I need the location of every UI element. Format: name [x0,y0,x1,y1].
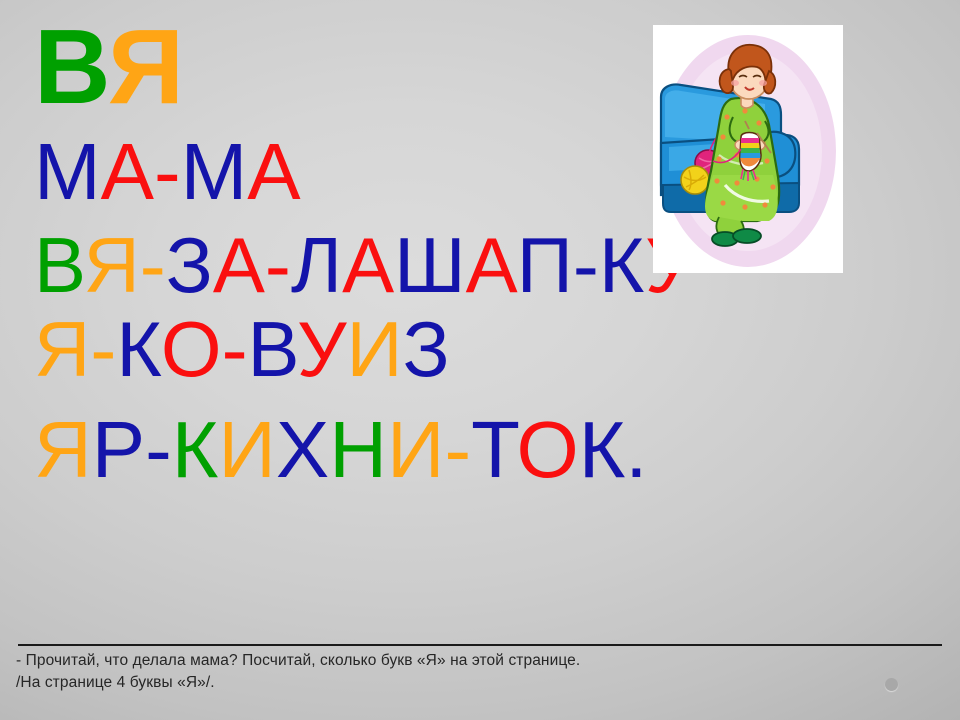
letter-mama-4: А [247,127,300,216]
letter-yarkih-nitok-7: Н [329,405,387,494]
footer-line-1: - Прочитай, что делала мама? Посчитай, с… [16,650,946,672]
letter-title-1: Я [108,8,184,126]
letter-yarkih-nitok-12: К [579,405,626,494]
decorative-dot [885,678,898,691]
letter-yarkih-nitok-13: . [625,405,647,494]
illustration-svg [653,25,843,273]
footer-instruction-text: - Прочитай, что делала мама? Посчитай, с… [16,650,946,695]
letter-mama-0: М [34,127,101,216]
letter-vyazala-shapku-2: - [140,221,166,309]
letter-vyazala-shapku-12: - [573,221,599,309]
letter-yarkih-nitok-3: К [172,405,219,494]
letter-yarkih-nitok-5: Х [276,405,329,494]
slide-canvas: ВЯ МА-МА ВЯ-ЗА-ЛАШАП-КУ Я-КО-ВУИЗ ЯР-КИХ… [0,0,960,720]
letter-yakovu-iz-0: Я [34,305,90,393]
footer-divider [18,644,942,646]
letter-mama-2: - [154,127,181,216]
letter-yakovu-iz-5: В [248,305,297,393]
letter-vyazala-shapku-6: Л [291,221,342,309]
letter-vyazala-shapku-13: К [599,221,645,309]
letter-vyazala-shapku-3: З [166,221,213,309]
word-line-yakovu-iz: Я-КО-ВУИЗ [34,310,914,388]
letter-vyazala-shapku-11: П [517,221,573,309]
letter-yarkih-nitok-10: Т [471,405,516,494]
letter-yarkih-nitok-4: И [218,405,276,494]
letter-yakovu-iz-9: З [403,305,450,393]
letter-vyazala-shapku-10: А [466,221,517,309]
letter-vyazala-shapku-0: В [34,221,83,309]
letter-yarkih-nitok-8: И [387,405,445,494]
letter-vyazala-shapku-9: Ш [394,221,466,309]
knitting-mother-illustration [653,25,843,273]
letter-vyazala-shapku-1: Я [83,221,139,309]
letter-yarkih-nitok-11: О [516,405,578,494]
letter-yarkih-nitok-9: - [445,405,472,494]
letter-yarkih-nitok-2: - [145,405,172,494]
letter-yarkih-nitok-0: Я [34,405,92,494]
word-line-yarkih-nitok: ЯР-КИХНИ-ТОК. [34,410,914,490]
letter-title-0: В [34,8,108,126]
letter-vyazala-shapku-4: А [213,221,265,309]
letter-mama-3: М [181,127,248,216]
letter-yakovu-iz-1: - [90,305,116,393]
letter-mama-1: А [101,127,154,216]
letter-vyazala-shapku-5: - [265,221,291,309]
letter-vyazala-shapku-7: А [342,221,394,309]
letter-yakovu-iz-6: У [297,305,347,393]
letter-yakovu-iz-4: - [222,305,248,393]
letter-yakovu-iz-3: О [161,305,222,393]
letter-yakovu-iz-2: К [116,305,161,393]
letter-yarkih-nitok-1: Р [92,405,145,494]
letter-yakovu-iz-8: И [347,305,403,393]
footer-line-2: /На странице 4 буквы «Я»/. [16,672,946,694]
